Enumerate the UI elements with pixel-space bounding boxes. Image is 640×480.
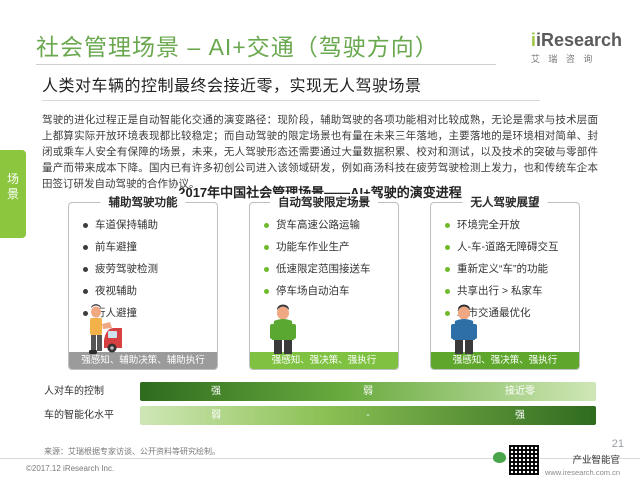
logo-sub-label: 艾 瑞 咨 询 bbox=[531, 52, 622, 65]
arm-left bbox=[451, 324, 456, 339]
website-url: www.iresearch.com.cn bbox=[545, 468, 620, 477]
arm-left bbox=[270, 324, 275, 339]
list-item: 人-车-道路无障碍交互 bbox=[445, 241, 579, 254]
logo-main-label: iResearch bbox=[536, 30, 622, 50]
arm-shape bbox=[102, 322, 112, 329]
row-label: 车的智能化水平 bbox=[44, 406, 136, 425]
slide: 社会管理场景 – AI+交通（驾驶方向） 人类对车辆的控制最终会接近零，实现无人… bbox=[0, 0, 640, 480]
leg-left bbox=[91, 335, 96, 351]
gradient-bar-vehicle-intelligence: 弱 - 强 bbox=[140, 406, 596, 425]
car-window bbox=[108, 331, 117, 338]
row-label: 人对车的控制 bbox=[44, 382, 136, 401]
cell-value: 弱 bbox=[140, 406, 292, 425]
list-item: 低速限定范围接送车 bbox=[264, 263, 398, 276]
source-note: 来源：艾瑞根据专家访谈、公开资料等研究绘制。 bbox=[44, 446, 220, 457]
column-2-heading: 自动驾驶限定场景 bbox=[270, 194, 378, 210]
list-item: 疲劳驾驶检测 bbox=[83, 263, 217, 276]
head-shape bbox=[91, 307, 101, 318]
cell-value: 强 bbox=[140, 382, 292, 401]
body-paragraph: 驾驶的进化过程正是自动智能化交通的演变路径：现阶段，辅助驾驶的各项功能相对比较成… bbox=[42, 112, 598, 192]
wechat-account-label: 产业智能官 bbox=[545, 452, 620, 466]
leg-left bbox=[455, 340, 463, 354]
columns-group: 辅助驾驶功能 车道保持辅助 前车避撞 疲劳驾驶检测 夜视辅助 行人避撞 强感知、… bbox=[68, 202, 580, 372]
copyright-note: ©2017.12 iResearch Inc. bbox=[26, 464, 114, 473]
list-item: 环境完全开放 bbox=[445, 219, 579, 232]
leg-right bbox=[284, 340, 292, 354]
shoe-left bbox=[89, 350, 97, 354]
cell-value: 弱 bbox=[292, 382, 444, 401]
page-number: 21 bbox=[612, 438, 624, 450]
title-divider bbox=[36, 64, 496, 65]
column-2-list: 货车高速公路运输 功能车作业生产 低速限定范围接送车 停车场自动泊车 bbox=[250, 203, 398, 298]
list-item: 共享出行 > 私家车 bbox=[445, 285, 579, 298]
iresearch-logo: iiResearch 艾 瑞 咨 询 bbox=[531, 30, 622, 65]
wechat-icon bbox=[493, 452, 506, 463]
comparison-table: 人对车的控制 强 弱 接近零 车的智能化水平 弱 - 强 bbox=[44, 382, 596, 438]
logo-text: iiResearch bbox=[531, 30, 622, 51]
torso-shape bbox=[453, 319, 475, 340]
list-item: 功能车作业生产 bbox=[264, 241, 398, 254]
torso-shape bbox=[272, 319, 294, 340]
list-item: 货车高速公路运输 bbox=[264, 219, 398, 232]
page-subtitle: 人类对车辆的控制最终会接近零，实现无人驾驶场景 bbox=[42, 72, 422, 96]
comparison-row-human-control: 人对车的控制 强 弱 接近零 bbox=[44, 382, 596, 401]
leg-right bbox=[465, 340, 473, 354]
column-3-heading: 无人驾驶展望 bbox=[463, 194, 548, 210]
list-item: 夜视辅助 bbox=[83, 285, 217, 298]
arm-right bbox=[472, 324, 477, 339]
list-item: 车道保持辅助 bbox=[83, 219, 217, 232]
cell-value: 接近零 bbox=[444, 382, 596, 401]
arm-right bbox=[291, 324, 296, 339]
head-shape bbox=[277, 307, 289, 320]
cell-value: - bbox=[292, 406, 444, 425]
leg-right bbox=[97, 335, 102, 351]
wechat-block: 产业智能官 www.iresearch.com.cn bbox=[545, 452, 620, 477]
car-hubcap bbox=[110, 346, 114, 350]
list-item: 前车避撞 bbox=[83, 241, 217, 254]
column-1-heading: 辅助驾驶功能 bbox=[101, 194, 186, 210]
gradient-bar-human-control: 强 弱 接近零 bbox=[140, 382, 596, 401]
comparison-row-vehicle-intelligence: 车的智能化水平 弱 - 强 bbox=[44, 406, 596, 425]
person-blue-shirt-illustration bbox=[444, 302, 484, 358]
list-item: 停车场自动泊车 bbox=[264, 285, 398, 298]
list-item: 重新定义“车”的功能 bbox=[445, 263, 579, 276]
leg-left bbox=[274, 340, 282, 354]
subtitle-divider bbox=[42, 100, 540, 101]
page-title: 社会管理场景 – AI+交通（驾驶方向） bbox=[36, 28, 439, 62]
qr-code bbox=[508, 444, 540, 476]
cell-value: 强 bbox=[444, 406, 596, 425]
torso-shape bbox=[90, 318, 102, 335]
person-with-car-illustration bbox=[82, 302, 122, 358]
head-shape bbox=[458, 307, 470, 320]
person-green-shirt-illustration bbox=[263, 302, 303, 358]
